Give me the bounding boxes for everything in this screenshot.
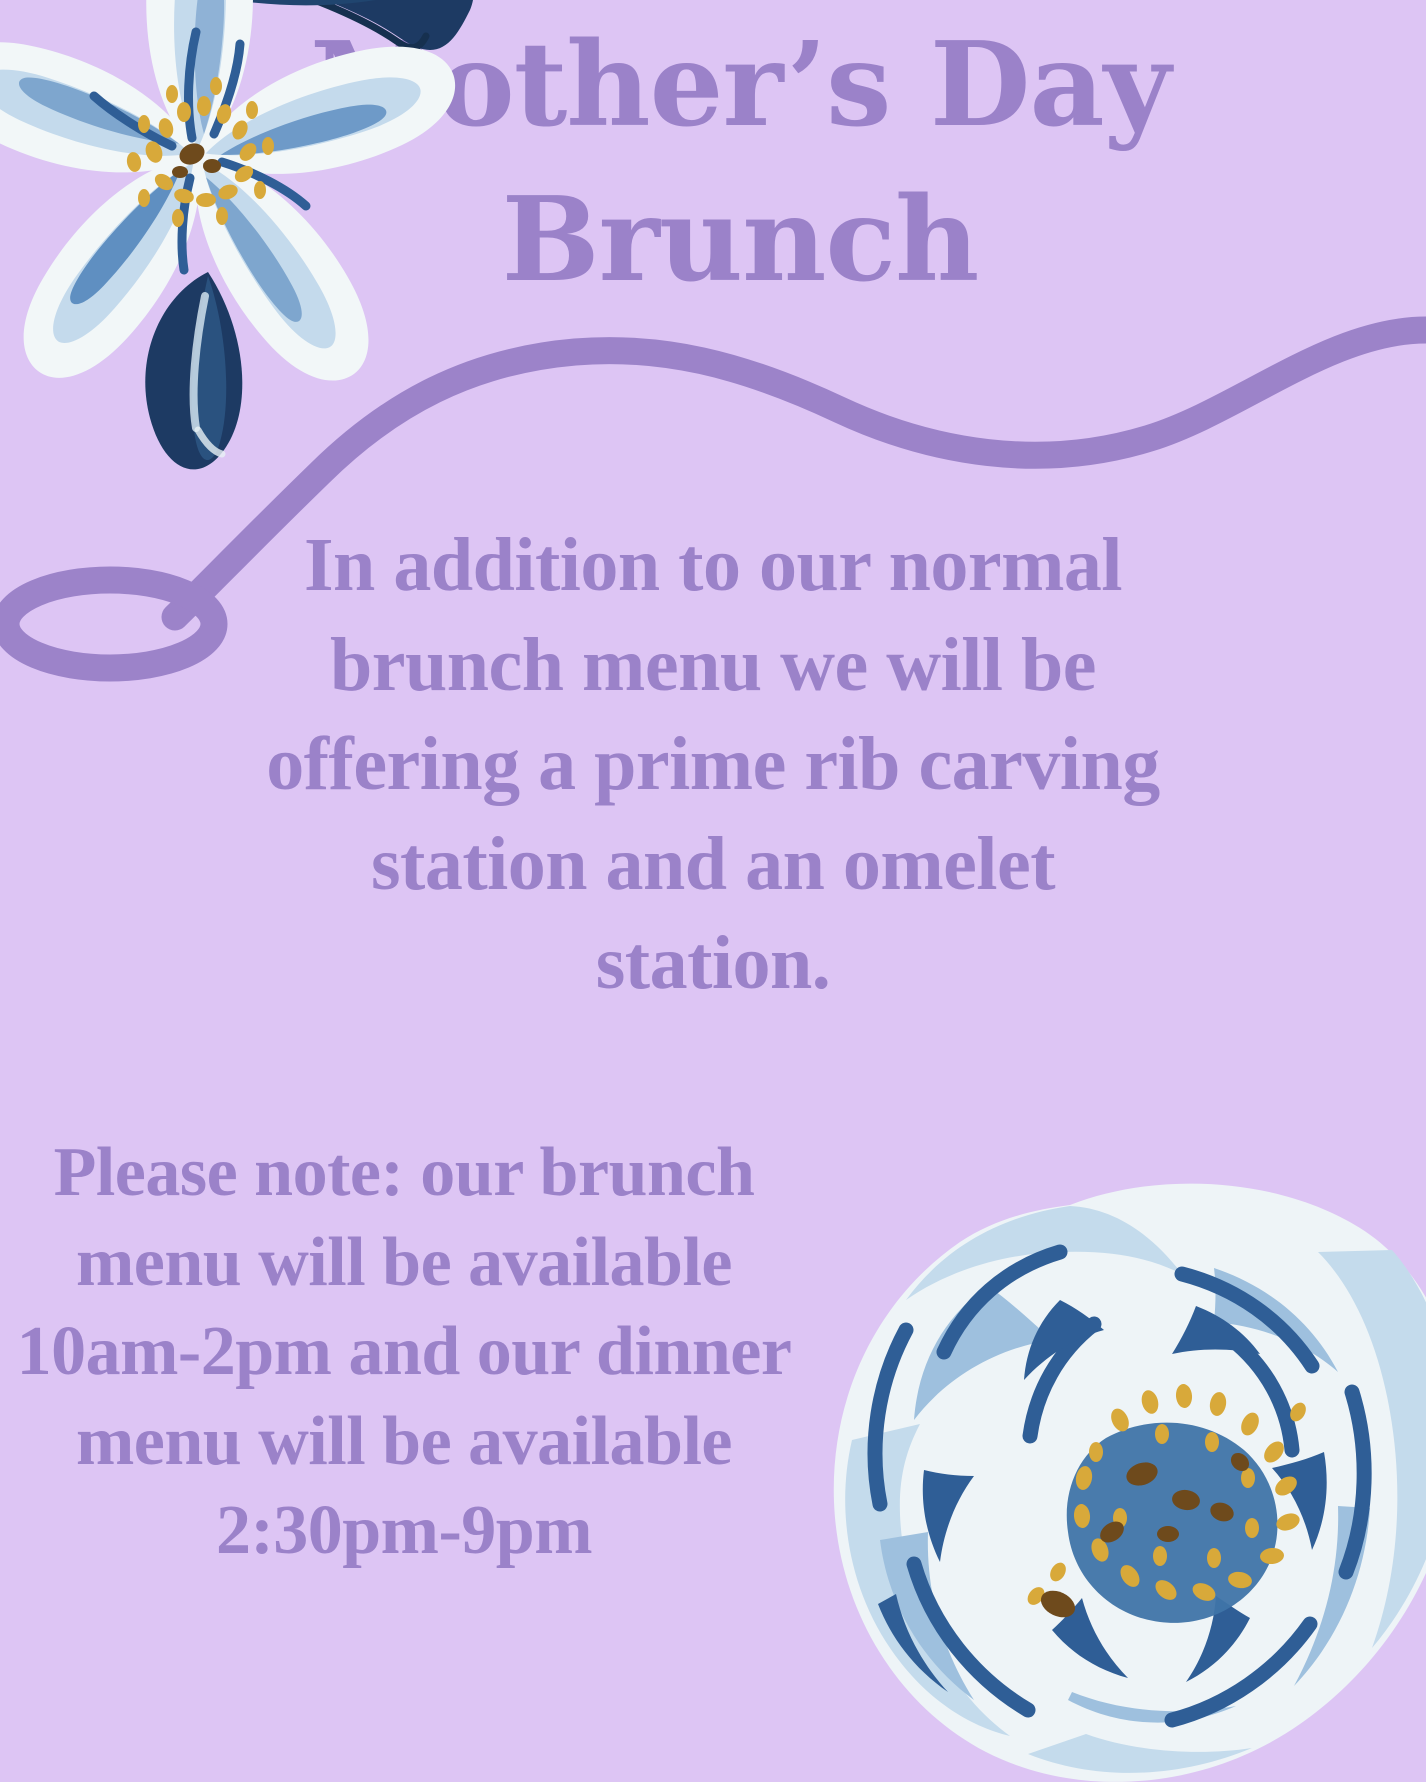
body-line-2: brunch menu we will be [213,616,1213,716]
mothers-day-brunch-poster: Mother’s Day Brunch In addition to our n… [0,0,1426,1782]
body-paragraph: In addition to our normal brunch menu we… [213,516,1213,1014]
note-line-4: menu will be available [14,1397,794,1487]
body-line-3: offering a prime rib carving [213,715,1213,815]
note-line-5: 2:30pm-9pm [14,1486,794,1576]
title-line-1: Mother’s Day [310,17,1170,153]
note-line-1: Please note: our brunch [14,1128,794,1218]
note-paragraph: Please note: our brunch menu will be ava… [14,1128,794,1576]
poster-text-layer: Mother’s Day Brunch In addition to our n… [0,0,1426,1782]
body-line-4: station and an omelet [213,815,1213,915]
page-title: Mother’s Day Brunch [300,8,1180,319]
note-line-3: 10am-2pm and our dinner [14,1307,794,1397]
body-line-5: station. [213,914,1213,1014]
body-line-1: In addition to our normal [213,516,1213,616]
title-line-2: Brunch [300,163,1180,318]
note-line-2: menu will be available [14,1218,794,1308]
